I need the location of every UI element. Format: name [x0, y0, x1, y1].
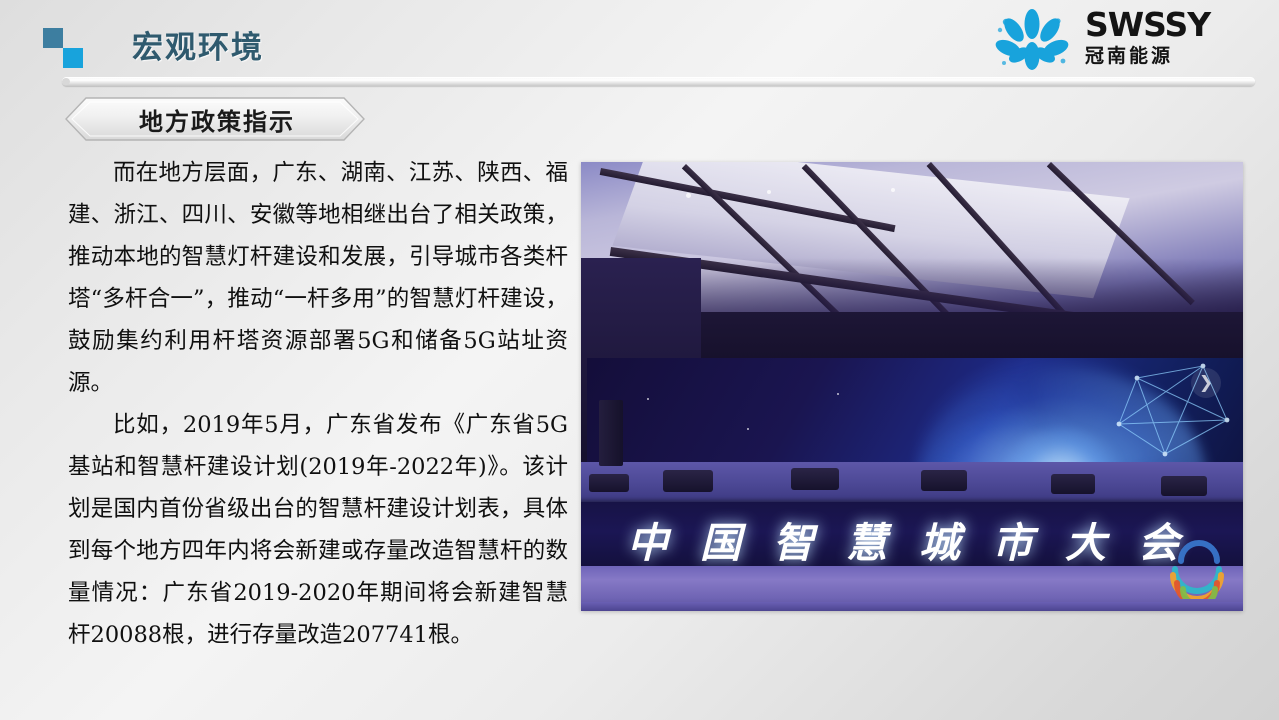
slide-canvas: 宏观环境: [0, 0, 1279, 720]
stage-monitor-2: [663, 470, 713, 492]
stage-monitor-4: [921, 470, 967, 491]
stage-monitor-6: [1161, 476, 1207, 496]
paragraph-1: 而在地方层面，广东、湖南、江苏、陕西、福建、浙江、四川、安徽等地相继出台了相关政…: [68, 152, 568, 404]
floor-edge: [581, 602, 1243, 611]
photo-next-arrow-icon[interactable]: ❯: [1191, 368, 1221, 398]
led-star-4: [837, 393, 839, 395]
stage-monitor-1: [589, 474, 629, 492]
brand-logo: SWSSY 冠南能源: [989, 6, 1249, 74]
square-dark-icon: [43, 28, 63, 48]
paragraph-2: 比如，2019年5月，广东省发布《广东省5G基站和智慧杆建设计划(2019年-2…: [68, 404, 568, 656]
brand-text-block: SWSSY 冠南能源: [1085, 8, 1210, 68]
square-bright-icon: [63, 48, 83, 68]
water-droplet-flower-icon: [989, 8, 1075, 72]
speaker-stack-left: [599, 400, 623, 466]
body-text-block: 而在地方层面，广东、湖南、江苏、陕西、福建、浙江、四川、安徽等地相继出台了相关政…: [68, 152, 568, 656]
section-banner: 地方政策指示: [64, 96, 366, 142]
led-star-2: [747, 428, 749, 430]
slide-header: 宏观环境: [0, 0, 1279, 92]
stage-monitor-3: [791, 468, 839, 490]
colorful-ring-logo-icon: [1165, 539, 1229, 599]
stage-monitor-5: [1051, 474, 1095, 494]
ceiling-light-3: [891, 188, 895, 192]
ceiling-light-2: [767, 190, 771, 194]
ceiling-light-1: [686, 193, 691, 198]
page-title: 宏观环境: [132, 22, 264, 67]
brand-subtitle: 冠南能源: [1085, 44, 1210, 68]
section-title: 地方政策指示: [64, 96, 366, 142]
led-star-1: [647, 398, 649, 400]
decorative-squares: [43, 28, 89, 68]
header-divider-cap: [62, 78, 70, 85]
conference-photo: 2019 SMART CITY 时间：2019年11月28日-30日 智慧城市 …: [581, 162, 1243, 611]
header-divider: [62, 77, 1255, 86]
stage-front-text: 中国智慧城市大会: [599, 509, 1239, 569]
brand-name: SWSSY: [1085, 8, 1210, 42]
